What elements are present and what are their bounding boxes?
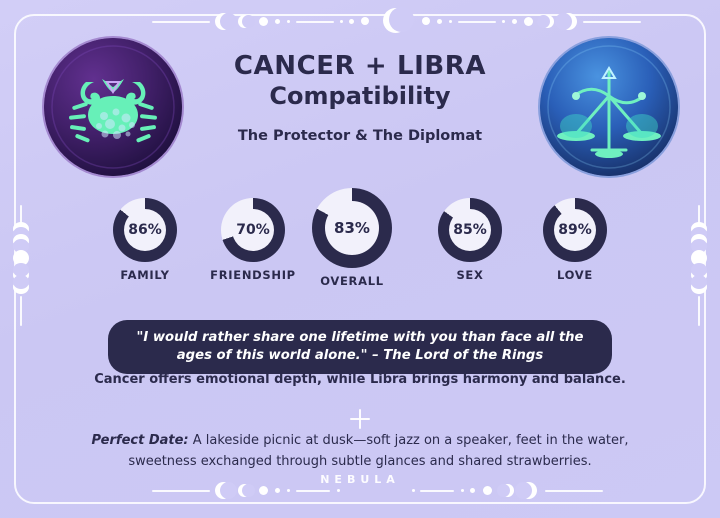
perfect-date-label: Perfect Date: <box>92 433 189 448</box>
libra-emblem <box>540 38 678 176</box>
gauge-friendship: 70% FRIENDSHIP <box>210 198 296 282</box>
donut-chart-overall: 83% <box>312 188 392 268</box>
quote-text: "I would rather share one lifetime with … <box>124 329 596 365</box>
perfect-date-text: A lakeside picnic at dusk—soft jazz on a… <box>128 433 628 469</box>
donut-chart-love: 89% <box>543 198 607 262</box>
donut-chart-sex: 85% <box>438 198 502 262</box>
gauge-label-overall: OVERALL <box>310 274 394 288</box>
page-title-line1: CANCER + LIBRA <box>190 52 530 82</box>
gauge-overall: 83% OVERALL <box>310 188 394 288</box>
perfect-date-block: Perfect Date: A lakeside picnic at dusk—… <box>60 430 660 473</box>
quote-banner: "I would rather share one lifetime with … <box>108 320 612 374</box>
crab-icon <box>44 38 182 176</box>
gauge-family: 86% FAMILY <box>105 198 185 282</box>
cancer-emblem <box>44 38 182 176</box>
sparkle-divider-icon <box>350 409 370 429</box>
gauge-value-friendship: 70% <box>221 198 285 262</box>
compatibility-card: CANCER + LIBRA Compatibility The Protect… <box>0 0 720 518</box>
gauge-value-love: 89% <box>543 198 607 262</box>
gauge-label-love: LOVE <box>535 268 615 282</box>
gauge-value-family: 86% <box>113 198 177 262</box>
gauge-label-sex: SEX <box>430 268 510 282</box>
donut-chart-friendship: 70% <box>221 198 285 262</box>
gauge-label-family: FAMILY <box>105 268 185 282</box>
brand-name: NEBULA <box>0 473 720 486</box>
gauge-sex: 85% SEX <box>430 198 510 282</box>
page-title-line2: Compatibility <box>190 82 530 111</box>
compatibility-gauges: 86% FAMILY 70% FRIENDSHIP 83% OVERALL 85… <box>0 188 720 304</box>
gauge-label-friendship: FRIENDSHIP <box>210 268 296 282</box>
gauge-value-overall: 83% <box>312 188 392 268</box>
gauge-love: 89% LOVE <box>535 198 615 282</box>
donut-chart-family: 86% <box>113 198 177 262</box>
footer-moon-border: NEBULA <box>0 478 720 504</box>
tagline: Cancer offers emotional depth, while Lib… <box>0 372 720 387</box>
page-subtitle: The Protector & The Diplomat <box>190 128 530 144</box>
scales-icon <box>540 38 678 176</box>
header: CANCER + LIBRA Compatibility The Protect… <box>190 52 530 144</box>
gauge-value-sex: 85% <box>438 198 502 262</box>
